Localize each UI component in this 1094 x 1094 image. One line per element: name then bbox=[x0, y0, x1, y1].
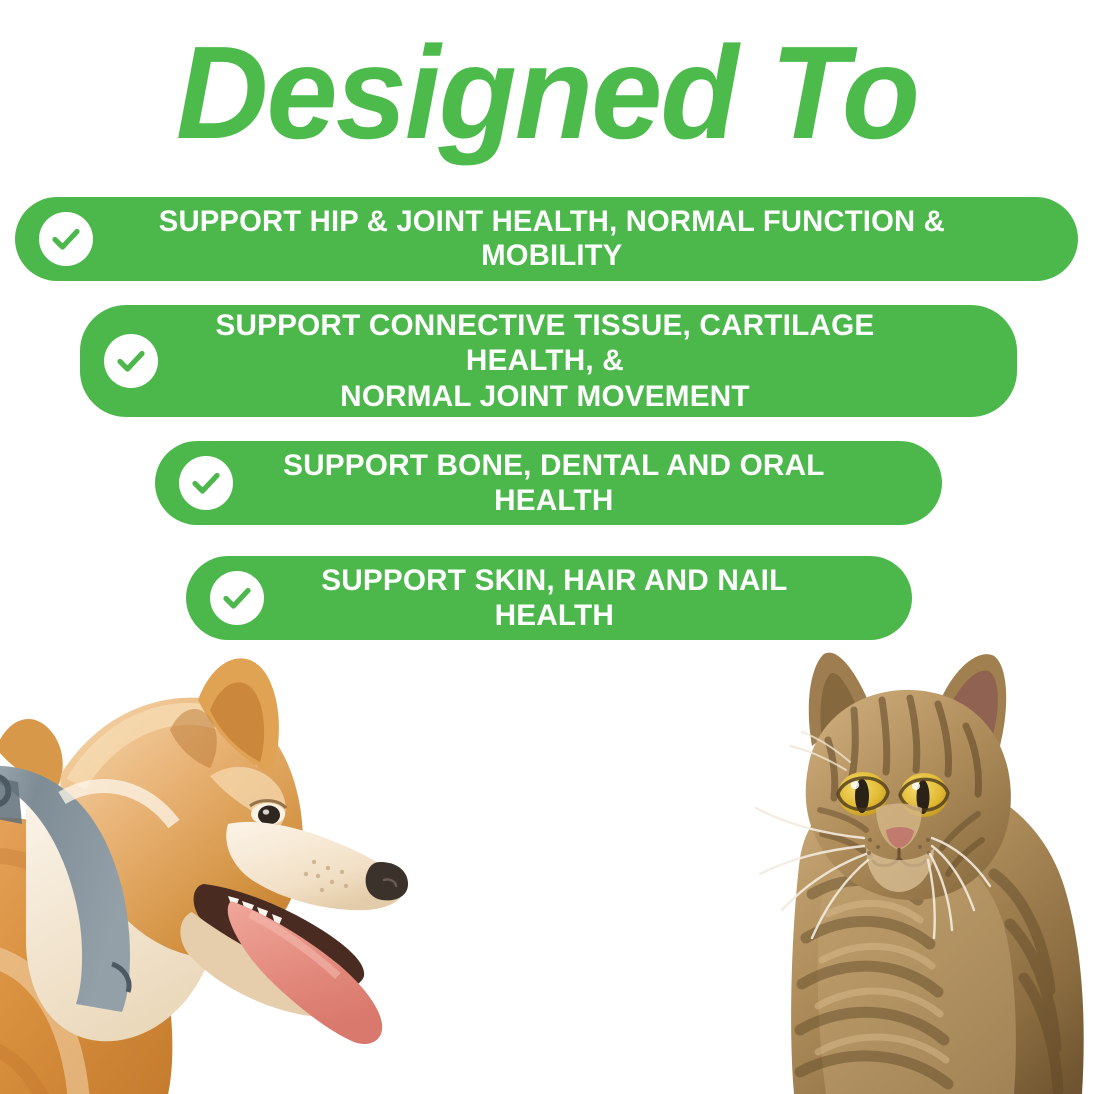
benefit-label: SUPPORT HIP & JOINT HEALTH, NORMAL FUNCT… bbox=[98, 205, 1073, 274]
check-circle-icon bbox=[179, 456, 233, 510]
benefit-pill-3[interactable]: SUPPORT BONE, DENTAL AND ORAL HEALTH bbox=[155, 441, 942, 525]
poster-canvas: Designed To SUPPORT HIP & JOINT HEALTH, … bbox=[0, 0, 1094, 1094]
benefit-pill-2[interactable]: SUPPORT CONNECTIVE TISSUE, CARTILAGE HEA… bbox=[80, 305, 1017, 417]
animal-photos bbox=[0, 640, 1094, 1094]
benefit-pill-1[interactable]: SUPPORT HIP & JOINT HEALTH, NORMAL FUNCT… bbox=[15, 197, 1078, 281]
benefit-label: SUPPORT BONE, DENTAL AND ORAL HEALTH bbox=[237, 448, 939, 518]
check-circle-icon bbox=[210, 571, 264, 625]
check-circle-icon bbox=[104, 334, 158, 388]
cat-photo bbox=[742, 648, 1094, 1094]
check-circle-icon bbox=[39, 212, 93, 266]
benefit-pill-4[interactable]: SUPPORT SKIN, HAIR AND NAIL HEALTH bbox=[186, 556, 912, 640]
benefit-label: SUPPORT SKIN, HAIR AND NAIL HEALTH bbox=[267, 563, 909, 633]
dog-photo bbox=[0, 656, 446, 1094]
benefit-label: SUPPORT CONNECTIVE TISSUE, CARTILAGE HEA… bbox=[162, 308, 1012, 413]
